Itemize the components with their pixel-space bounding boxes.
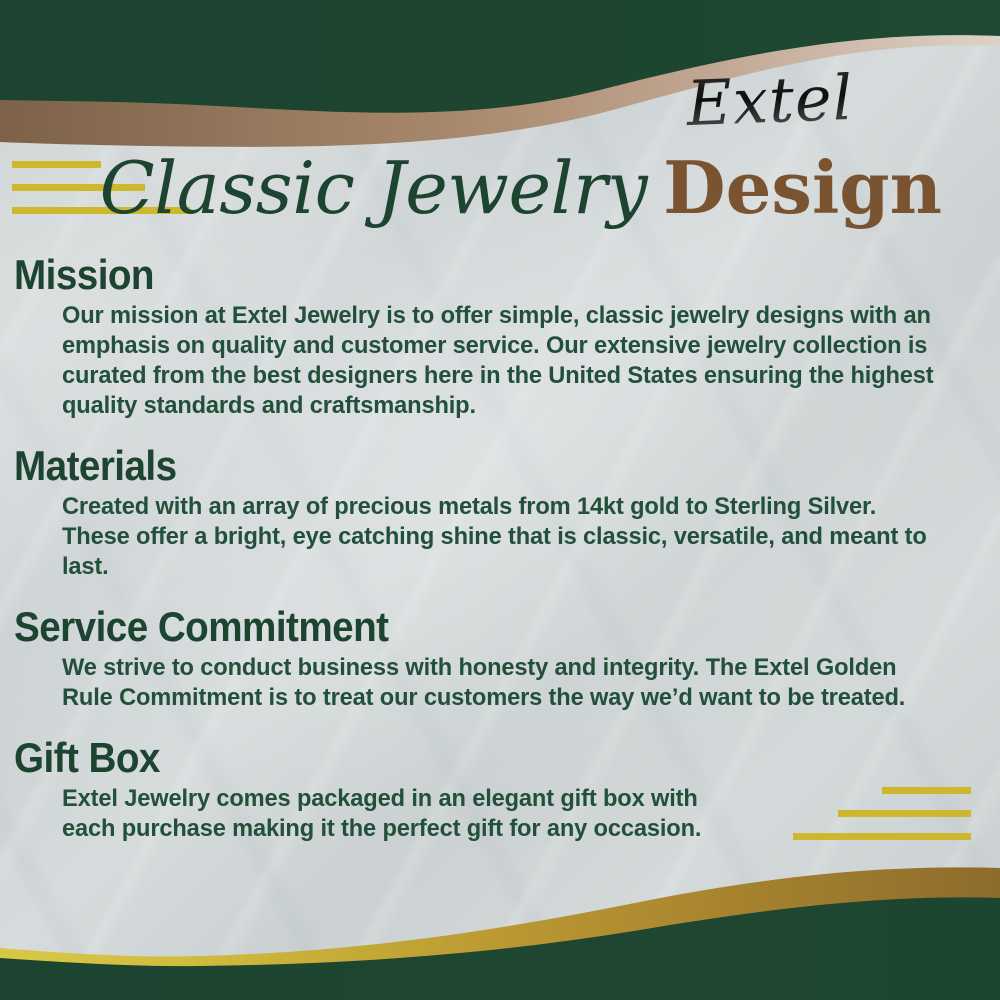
poster-title: Classic JewelryDesign <box>0 152 1000 224</box>
bottom-wave-decoration <box>0 840 1000 1000</box>
section-heading-service-commitment: Service Commitment <box>14 604 921 649</box>
section-body-service-commitment: We strive to conduct business with hones… <box>62 653 934 713</box>
section-body-gift-box: Extel Jewelry comes packaged in an elega… <box>62 784 736 844</box>
section-gift-box: Gift Box Extel Jewelry comes packaged in… <box>0 735 1000 844</box>
section-heading-gift-box: Gift Box <box>14 735 921 780</box>
brand-logo-extel: Extel <box>599 63 941 138</box>
section-materials: Materials Created with an array of preci… <box>0 443 1000 582</box>
section-heading-mission: Mission <box>14 252 921 297</box>
title-classic-jewelry: Classic Jewelry <box>100 146 648 230</box>
title-design: Design <box>663 145 942 230</box>
section-heading-materials: Materials <box>14 443 921 488</box>
section-mission: Mission Our mission at Extel Jewelry is … <box>0 252 1000 421</box>
poster-canvas: Extel Classic JewelryDesign Mission Our … <box>0 0 1000 1000</box>
section-service-commitment: Service Commitment We strive to conduct … <box>0 604 1000 713</box>
section-body-mission: Our mission at Extel Jewelry is to offer… <box>62 301 934 421</box>
content-sections: Mission Our mission at Extel Jewelry is … <box>0 252 1000 860</box>
section-body-materials: Created with an array of precious metals… <box>62 492 934 582</box>
